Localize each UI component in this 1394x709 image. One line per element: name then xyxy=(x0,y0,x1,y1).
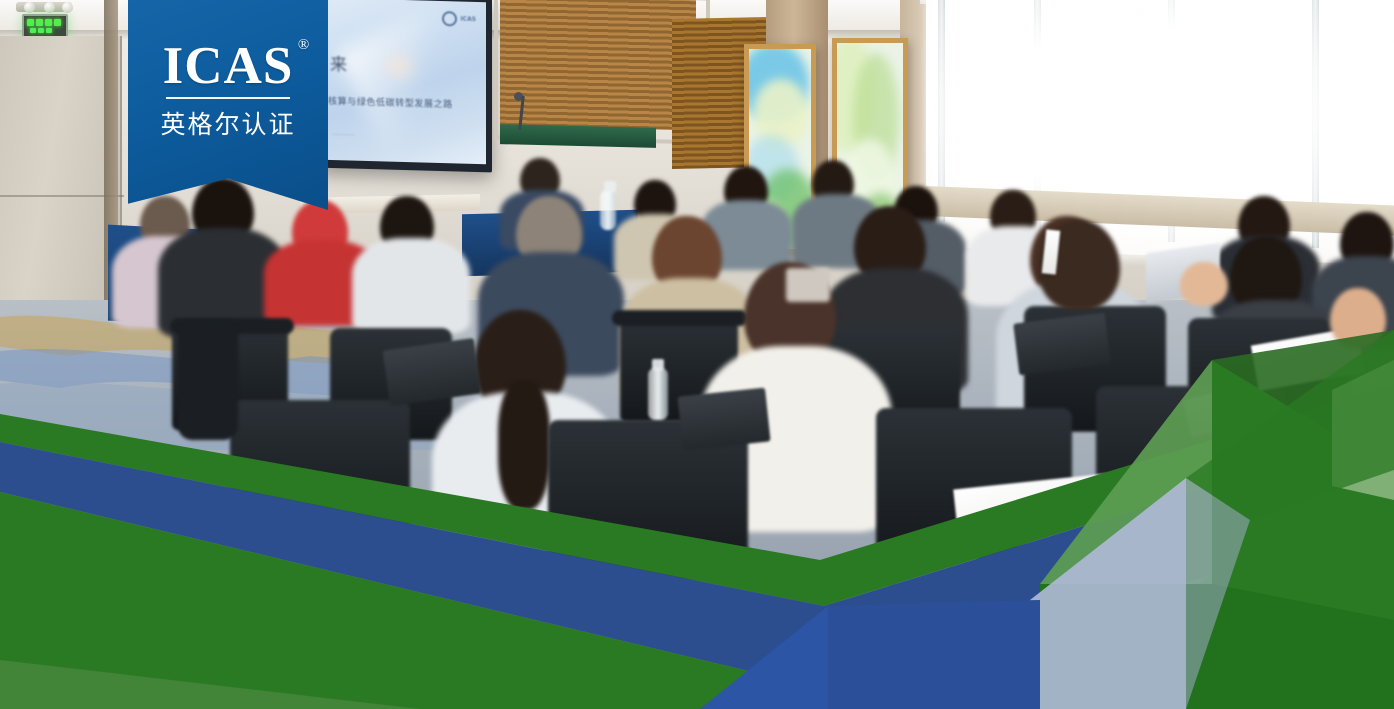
chair-arm xyxy=(612,310,748,326)
slide-logo: ICAS xyxy=(442,11,476,27)
chair-back xyxy=(230,400,410,540)
water-bottle xyxy=(648,368,668,420)
hand xyxy=(1216,400,1272,446)
sign-light-2 xyxy=(44,2,55,13)
slide-subtitle: 核算与绿色低碳转型发展之路 xyxy=(328,94,453,110)
ponytail xyxy=(498,380,550,510)
slide-logo-ring xyxy=(442,11,457,26)
slide-title: 来 xyxy=(330,50,348,76)
chair-arm xyxy=(178,320,238,440)
exit-sign-icon xyxy=(22,14,68,38)
water-bottle xyxy=(600,190,616,230)
brand-logo-panel xyxy=(128,0,328,210)
hair-clip xyxy=(786,268,830,302)
hand xyxy=(1330,288,1386,348)
person-body xyxy=(352,238,470,334)
hand xyxy=(1180,262,1228,306)
projection-screen: ICAS 来 核算与绿色低碳转型发展之路 ·················· xyxy=(322,0,486,164)
banner-canvas: ICAS 来 核算与绿色低碳转型发展之路 ·················· xyxy=(0,0,1394,709)
slide-footnote: ·················· xyxy=(332,132,355,139)
sign-light-3 xyxy=(62,2,73,13)
screen-hotspot xyxy=(378,48,421,85)
slide-logo-text: ICAS xyxy=(460,16,476,23)
chair-writing-tablet xyxy=(677,388,770,451)
sign-light-1 xyxy=(24,2,35,13)
chair-writing-tablet xyxy=(1013,313,1111,376)
presenter-table xyxy=(500,124,656,148)
